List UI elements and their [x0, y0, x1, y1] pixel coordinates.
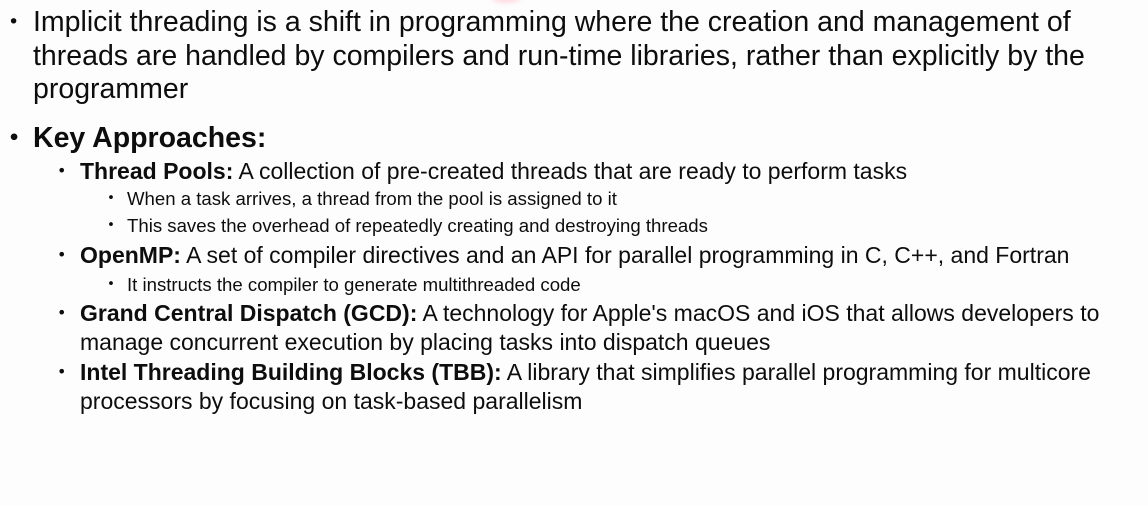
bullet-thread-pools-sub-2: • This saves the overhead of repeatedly … [0, 213, 1148, 239]
bullet-glyph-icon: • [57, 241, 66, 270]
bullet-openmp-sub-1: • It instructs the compiler to generate … [0, 272, 1148, 298]
bullet-intel-tbb: • Intel Threading Building Blocks (TBB):… [0, 358, 1148, 415]
bullet-glyph-icon: • [107, 186, 115, 212]
tbb-lead: Intel Threading Building Blocks (TBB): [80, 359, 502, 385]
slide-canvas: • Implicit threading is a shift in progr… [0, 0, 1148, 505]
bullet-glyph-icon: • [57, 157, 66, 186]
gcd-lead: Grand Central Dispatch (GCD): [80, 300, 417, 326]
key-approaches-heading-text: Key Approaches: [33, 122, 1148, 156]
thread-pools-lead: Thread Pools: [80, 158, 233, 184]
thread-pools-sub-1-text: When a task arrives, a thread from the p… [127, 186, 1148, 212]
thread-pools-line: Thread Pools: A collection of pre-create… [80, 157, 1148, 186]
bullet-grand-central-dispatch: • Grand Central Dispatch (GCD): A techno… [0, 299, 1148, 356]
bullet-intro: • Implicit threading is a shift in progr… [0, 6, 1148, 107]
tbb-line: Intel Threading Building Blocks (TBB): A… [80, 358, 1148, 415]
bullet-glyph-icon: • [8, 122, 20, 156]
bullet-key-approaches: • Key Approaches: [0, 122, 1148, 156]
bullet-intro-text: Implicit threading is a shift in program… [33, 6, 1148, 107]
bullet-openmp: • OpenMP: A set of compiler directives a… [0, 241, 1148, 270]
bullet-thread-pools-sub-1: • When a task arrives, a thread from the… [0, 186, 1148, 212]
bullet-glyph-icon: • [107, 213, 115, 239]
bullet-glyph-icon: • [8, 6, 19, 40]
openmp-lead: OpenMP: [80, 242, 181, 268]
pink-smudge-artifact [492, 0, 520, 3]
gcd-line: Grand Central Dispatch (GCD): A technolo… [80, 299, 1148, 356]
thread-pools-body: A collection of pre-created threads that… [233, 158, 907, 184]
openmp-line: OpenMP: A set of compiler directives and… [80, 241, 1148, 270]
thread-pools-sub-2-text: This saves the overhead of repeatedly cr… [127, 213, 1148, 239]
bullet-glyph-icon: • [107, 272, 115, 298]
bullet-glyph-icon: • [57, 358, 66, 387]
bullet-glyph-icon: • [57, 299, 66, 328]
bullet-thread-pools: • Thread Pools: A collection of pre-crea… [0, 157, 1148, 186]
openmp-sub-1-text: It instructs the compiler to generate mu… [127, 272, 1148, 298]
slide-body-text: • Implicit threading is a shift in progr… [0, 6, 1148, 415]
openmp-body: A set of compiler directives and an API … [181, 242, 1070, 268]
